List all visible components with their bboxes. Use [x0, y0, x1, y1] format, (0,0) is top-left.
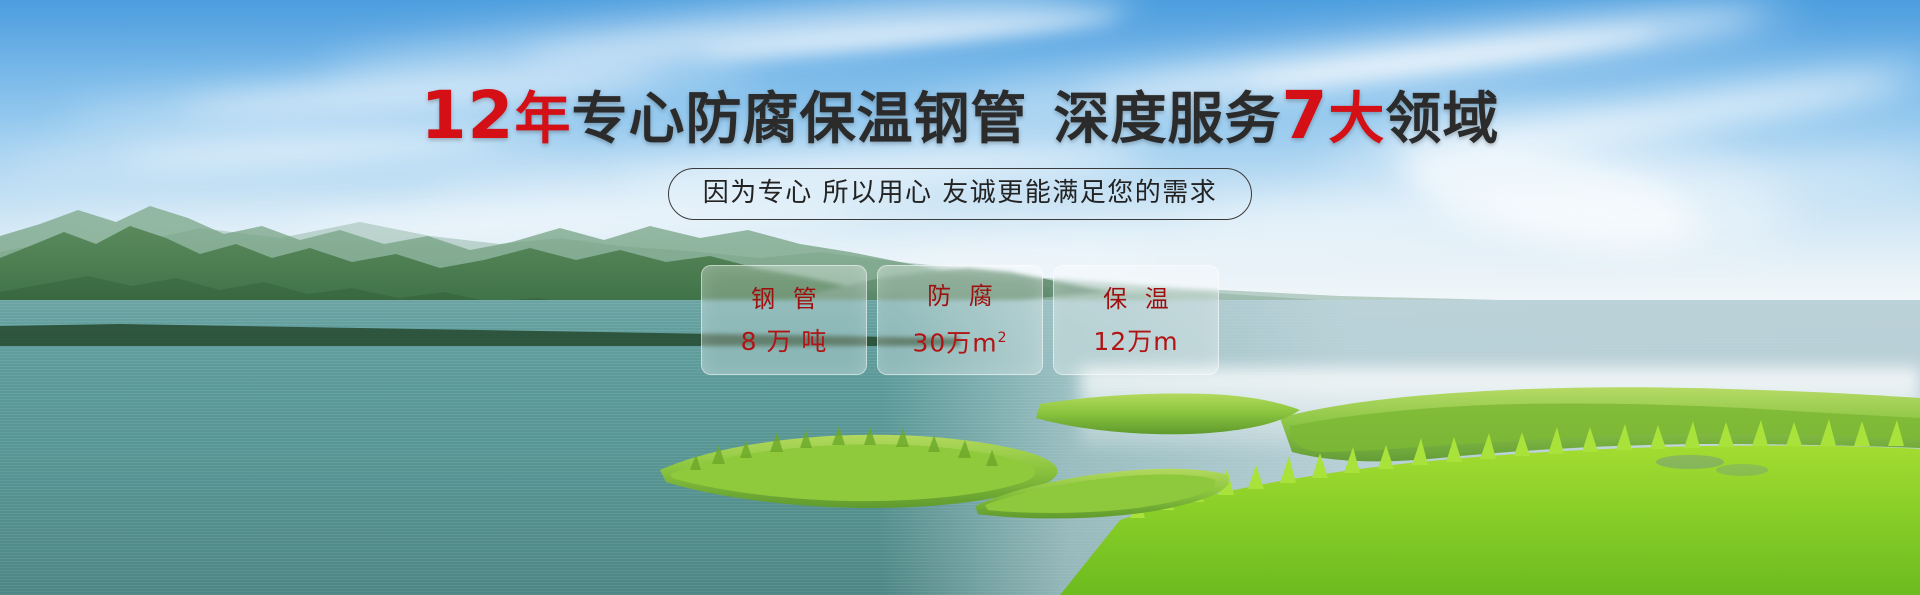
headline-main-text: 专心防腐保温钢管 — [571, 87, 1027, 152]
headline-service-text: 深度服务 — [1053, 87, 1281, 152]
stat-card-label: 防 腐 — [922, 283, 998, 309]
stat-card-value: 8 万 吨 — [741, 328, 828, 355]
headline-years-number: 12 — [421, 77, 515, 154]
stat-card-anticorrosion[interactable]: 防 腐 30万m2 — [877, 265, 1043, 375]
stat-card-value-superscript: 2 — [998, 330, 1008, 346]
stat-card-label: 保 温 — [1098, 286, 1174, 312]
stat-card-insulation[interactable]: 保 温 12万m — [1053, 265, 1219, 375]
headline-fields-number: 7 — [1281, 77, 1328, 154]
stat-card-value-text: 12万m — [1093, 327, 1178, 356]
stat-card-value-text: 8 万 吨 — [741, 327, 828, 356]
stat-card-value-text: 30万m — [912, 329, 997, 358]
stat-card-label: 钢 管 — [746, 286, 822, 312]
page-title: 12年专心防腐保温钢管深度服务7大领域 — [0, 86, 1920, 150]
headline-fields-text: 领域 — [1385, 87, 1499, 152]
stat-card-value: 12万m — [1093, 328, 1178, 355]
stat-card-list: 钢 管 8 万 吨 防 腐 30万m2 保 温 12万m — [0, 265, 1920, 375]
headline-years-unit: 年 — [514, 87, 571, 152]
headline-fields-unit: 大 — [1328, 87, 1385, 152]
promo-banner: 12年专心防腐保温钢管深度服务7大领域 因为专心 所以用心 友诚更能满足您的需求… — [0, 0, 1920, 595]
subtitle-container: 因为专心 所以用心 友诚更能满足您的需求 — [0, 168, 1920, 220]
subtitle-pill: 因为专心 所以用心 友诚更能满足您的需求 — [668, 168, 1253, 220]
stat-card-steel-pipe[interactable]: 钢 管 8 万 吨 — [701, 265, 867, 375]
stat-card-value: 30万m2 — [912, 325, 1007, 356]
